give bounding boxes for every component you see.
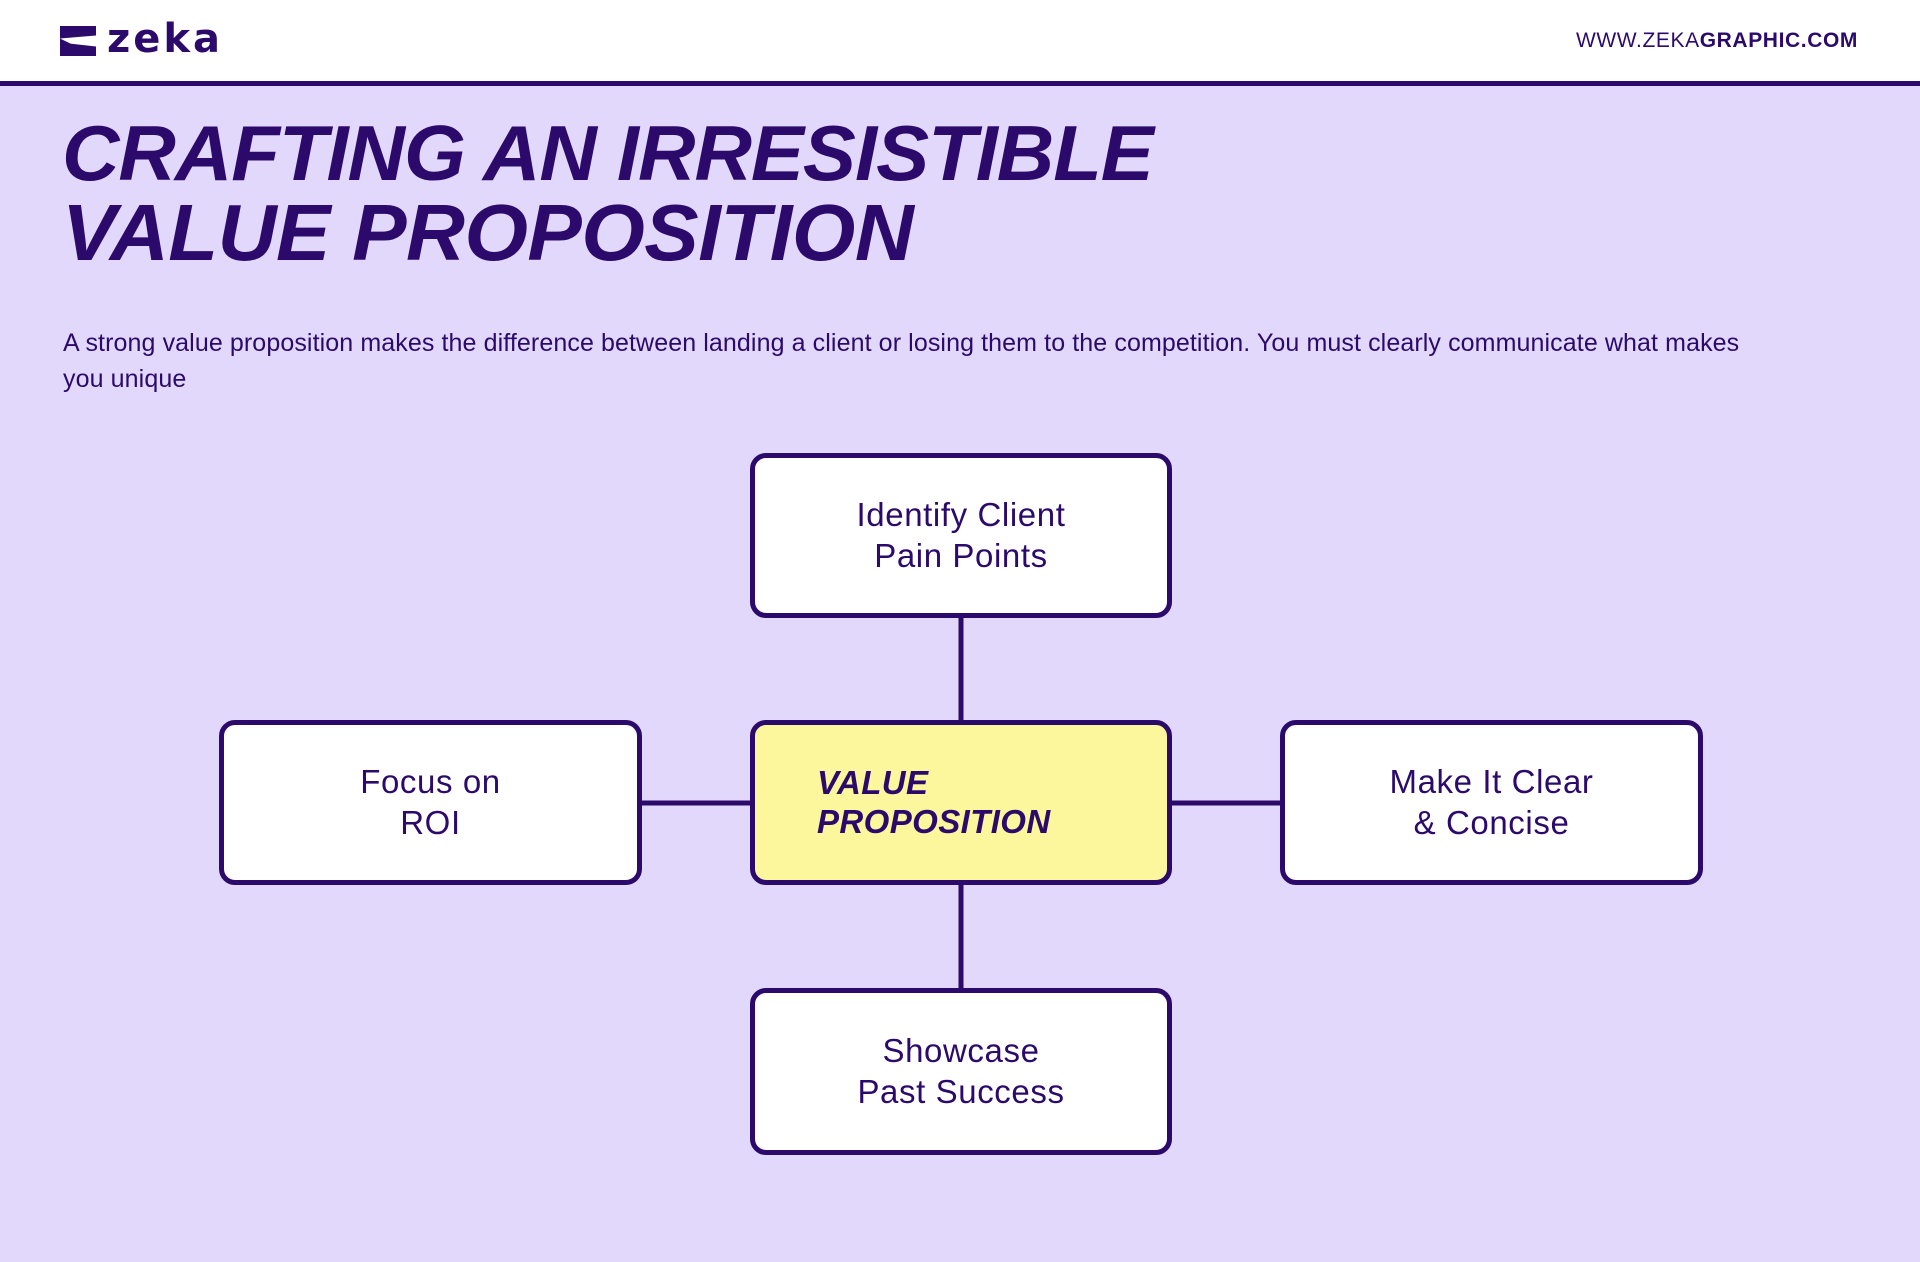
header-bar: zeka WWW.ZEKAGRAPHIC.COM (0, 0, 1920, 86)
node-value-proposition[interactable]: VALUE PROPOSITION (750, 720, 1172, 885)
node-make-it-clear-and-concise[interactable]: Make It Clear & Concise (1280, 720, 1703, 885)
brand-logo[interactable]: zeka (60, 21, 223, 61)
page-title-line-2: Value Proposition (62, 196, 1816, 270)
node-showcase-past-success[interactable]: Showcase Past Success (750, 988, 1172, 1155)
site-url-bold: GRAPHIC.COM (1700, 29, 1858, 52)
site-url-light: WWW.ZEKA (1576, 29, 1700, 52)
node-label: Identify Client Pain Points (857, 495, 1066, 576)
page-title: Crafting an Irresistible Value Propositi… (62, 118, 1782, 269)
node-identify-client-pain-points[interactable]: Identify Client Pain Points (750, 453, 1172, 618)
node-focus-on-roi[interactable]: Focus on ROI (219, 720, 642, 885)
page-subtitle: A strong value proposition makes the dif… (63, 325, 1783, 398)
logo-wordmark: zeka (107, 19, 223, 59)
node-label: VALUE PROPOSITION (817, 764, 1051, 842)
node-label: Focus on ROI (360, 762, 501, 843)
site-url[interactable]: WWW.ZEKAGRAPHIC.COM (1576, 29, 1858, 53)
zeka-z-mark-icon (60, 26, 96, 56)
node-label: Make It Clear & Concise (1389, 762, 1593, 843)
node-label: Showcase Past Success (857, 1031, 1064, 1112)
page-title-line-1: Crafting an Irresistible (62, 118, 1816, 190)
